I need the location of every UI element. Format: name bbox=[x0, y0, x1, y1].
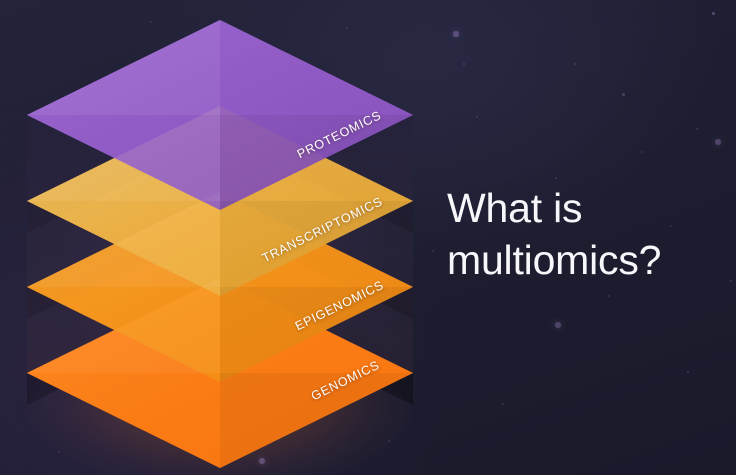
background-particle bbox=[712, 12, 715, 15]
multiomics-stack-graphic: PROTEOMICS TRANSCRIPTOMICS EPIGENOMICS G… bbox=[0, 0, 440, 475]
background-particle bbox=[555, 322, 561, 328]
background-particle bbox=[502, 403, 504, 405]
slide-canvas: PROTEOMICS TRANSCRIPTOMICS EPIGENOMICS G… bbox=[0, 0, 736, 475]
background-particle bbox=[463, 63, 465, 65]
background-particle bbox=[715, 139, 721, 145]
background-particle bbox=[555, 177, 557, 179]
page-title-line-2: multiomics? bbox=[447, 235, 722, 287]
background-particle bbox=[730, 280, 733, 283]
background-particle bbox=[622, 93, 625, 96]
background-particle bbox=[476, 116, 478, 118]
page-title-line-1: What is bbox=[447, 183, 722, 235]
background-particle bbox=[574, 63, 576, 65]
background-particle bbox=[453, 31, 458, 36]
background-particle bbox=[687, 371, 690, 374]
background-particle bbox=[608, 295, 610, 297]
background-particle bbox=[696, 128, 698, 130]
background-particle bbox=[641, 151, 643, 153]
page-title: What is multiomics? bbox=[447, 183, 722, 286]
